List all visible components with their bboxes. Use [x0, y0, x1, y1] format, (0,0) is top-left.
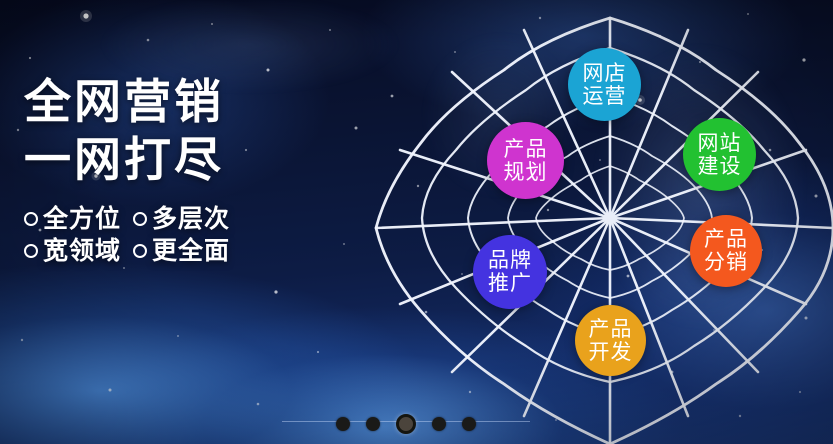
subpoint-item: 全方位: [24, 203, 121, 235]
circle-bullet-icon: [24, 244, 38, 258]
service-bubble-product-development[interactable]: 产品 开发: [575, 305, 646, 376]
carousel-dot[interactable]: [462, 417, 476, 431]
subpoint-row: 宽领域 更全面: [24, 235, 304, 267]
headline-line-2: 一网打尽: [24, 132, 304, 190]
carousel-dot[interactable]: [432, 417, 446, 431]
subpoint-item: 多层次: [133, 203, 230, 235]
circle-bullet-icon: [133, 244, 147, 258]
subpoint-item: 更全面: [133, 235, 230, 267]
carousel-dot[interactable]: [336, 417, 350, 431]
carousel-dot-active[interactable]: [396, 414, 416, 434]
promo-banner: 全网营销 一网打尽 全方位 多层次 宽领域 更: [0, 0, 833, 444]
bubble-label-line-2: 分销: [704, 251, 748, 274]
bubble-label-line-1: 产品: [589, 318, 633, 341]
bubble-label-line-1: 网站: [698, 132, 742, 155]
bubble-label-line-1: 网店: [583, 62, 627, 85]
headline-block: 全网营销 一网打尽 全方位 多层次 宽领域 更: [24, 74, 304, 267]
service-bubble-product-planning[interactable]: 产品 规划: [487, 122, 564, 199]
subpoint-label: 全方位: [43, 203, 121, 235]
bubble-label-line-2: 运营: [583, 85, 627, 108]
service-bubble-online-store-operation[interactable]: 网店 运营: [568, 48, 641, 121]
bubble-label-line-1: 品牌: [488, 249, 532, 272]
bubble-label-line-2: 开发: [589, 341, 633, 364]
headline-line-1: 全网营销: [24, 74, 304, 132]
circle-bullet-icon: [133, 212, 147, 226]
subpoint-label: 更全面: [152, 235, 230, 267]
bubble-label-line-2: 规划: [504, 161, 548, 184]
carousel-dot[interactable]: [366, 417, 380, 431]
bubble-label-line-2: 推广: [488, 272, 532, 295]
subpoints-list: 全方位 多层次 宽领域 更全面: [24, 203, 304, 267]
bubble-label-line-2: 建设: [698, 155, 742, 178]
subpoint-label: 宽领域: [43, 235, 121, 267]
subpoint-row: 全方位 多层次: [24, 203, 304, 235]
circle-bullet-icon: [24, 212, 38, 226]
carousel-pagination[interactable]: [336, 414, 476, 434]
service-bubble-product-distribution[interactable]: 产品 分销: [690, 215, 762, 287]
bubble-label-line-1: 产品: [704, 228, 748, 251]
bubble-label-line-1: 产品: [504, 138, 548, 161]
subpoint-label: 多层次: [152, 203, 230, 235]
subpoint-item: 宽领域: [24, 235, 121, 267]
service-bubble-website-construction[interactable]: 网站 建设: [683, 118, 756, 191]
service-bubble-brand-promotion[interactable]: 品牌 推广: [473, 235, 547, 309]
